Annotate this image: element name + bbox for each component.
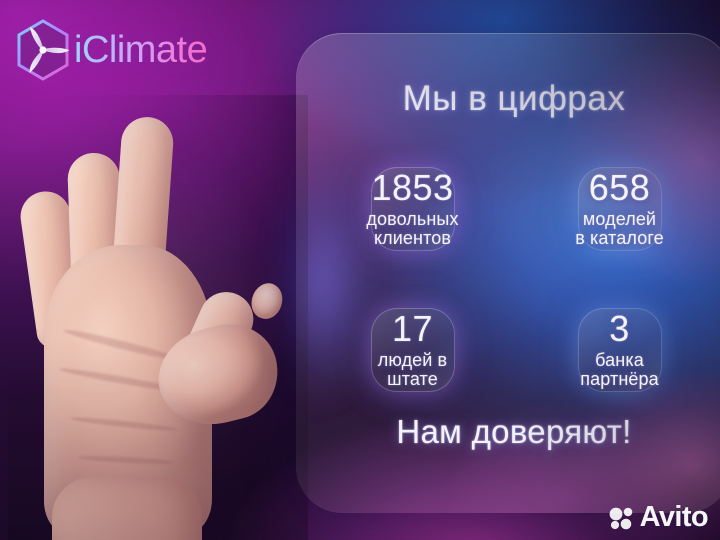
- avito-dots-icon: [609, 506, 635, 530]
- avito-wordmark: Avito: [640, 503, 708, 532]
- stat-label: моделей в каталоге: [575, 210, 663, 248]
- brand-name: iClimate: [74, 31, 207, 69]
- stat-value: 658: [575, 169, 663, 207]
- stat-label: банка партнёра: [580, 351, 658, 389]
- stat-text: 1853 довольных клиентов: [366, 169, 458, 247]
- promo-banner: Мы в цифрах 1853 довольных клиентов 658 …: [0, 0, 720, 540]
- avito-watermark: Avito: [609, 503, 708, 532]
- stat-text: 17 людей в штате: [378, 310, 447, 388]
- stat-value: 17: [378, 310, 447, 348]
- stat-label: довольных клиентов: [366, 210, 458, 248]
- stat-text: 3 банка партнёра: [580, 310, 658, 388]
- hexagon-turbine-icon: [14, 18, 72, 82]
- brand-logo[interactable]: iClimate: [14, 18, 207, 82]
- stat-value: 3: [580, 310, 658, 348]
- stat-label: людей в штате: [378, 351, 447, 389]
- stat-text: 658 моделей в каталоге: [575, 169, 663, 247]
- stat-value: 1853: [366, 169, 458, 207]
